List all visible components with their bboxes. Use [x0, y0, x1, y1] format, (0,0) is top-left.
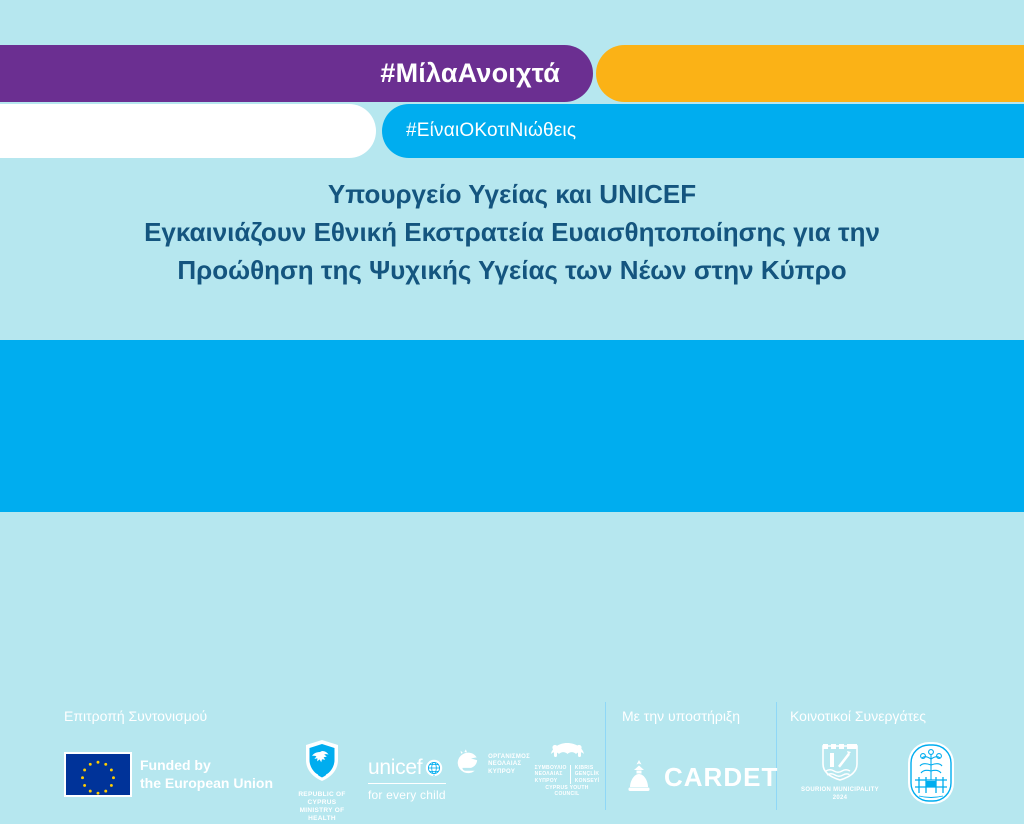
hashtag-band-primary: #ΜίλαΑνοιχτά [0, 45, 593, 102]
youth-board-dove-icon [452, 748, 486, 782]
unicef-logo: unicef for every child [368, 756, 446, 802]
sourion-municipality-logo: SOURION MUNICIPALITY 2024 [800, 740, 880, 802]
community-tree-emblem-icon [902, 740, 960, 806]
cyc-greek-line-2: ΝΕΟΛΑΙΑΣ [535, 771, 567, 777]
headline-line-2: Εγκαινιάζουν Εθνική Εκστρατεία Ευαισθητο… [0, 213, 1024, 251]
cardet-logo: CARDET [622, 758, 778, 796]
youth-board-caption-line-3: ΚΥΠΡΟΥ [488, 769, 530, 777]
republic-of-cyprus-ministry-of-health-logo: REPUBLIC OF CYPRUS MINISTRY OF HEALTH [286, 738, 358, 824]
youth-board-caption-line-1: ΟΡΓΑΝΙΣΜΟΣ [488, 754, 530, 762]
hashtag-secondary-text: #ΕίναιΟΚοτιΝιώθεις [406, 120, 576, 142]
hashtag-primary-text: #ΜίλαΑνοιχτά [380, 58, 560, 89]
campaign-banner: #ΜίλαΑνοιχτά #ΕίναιΟΚοτιΝιώθεις Υπουργεί… [0, 0, 1024, 512]
unicef-wordmark: unicef [368, 756, 422, 780]
cyc-turkish-line-2: GENÇLİK [575, 771, 600, 777]
cyprus-caption-line-1: REPUBLIC OF CYPRUS [286, 791, 358, 807]
community-tree-emblem-logo [900, 740, 962, 806]
eu-funding-line-2: the European Union [140, 774, 273, 792]
headline-line-3: Προώθηση της Ψυχικής Υγείας των Νέων στη… [0, 251, 1024, 289]
footer-divider-1 [605, 702, 606, 810]
cyc-english-line: CYPRUS YOUTH COUNCIL [533, 785, 601, 798]
youth-board-caption-line-2: ΝΕΟΛΑΙΑΣ [488, 761, 530, 769]
headline: Υπουργείο Υγείας και UNICEF Εγκαινιάζουν… [0, 175, 1024, 289]
cyprus-youth-council-umbrella-icon [533, 740, 601, 764]
footer-group-label-coordination: Επιτροπή Συντονισμού [64, 708, 207, 724]
cyprus-youth-council-logo: ΣΥΜΒΟΥΛΙΟ ΝΕΟΛΑΙΑΣ ΚΥΠΡΟΥ KIBRIS GENÇLİK… [533, 740, 601, 797]
footer-group-label-community: Κοινοτικοί Συνεργάτες [790, 708, 926, 724]
footer-group-label-support: Με την υποστήριξη [622, 708, 740, 724]
eu-flag-icon [64, 752, 132, 797]
sourion-caption-line-1: SOURION MUNICIPALITY [800, 787, 880, 795]
cyprus-caption-line-2: MINISTRY OF HEALTH [286, 807, 358, 823]
footer-partners-bar: Επιτροπή Συντονισμού Με την υποστήριξη Κ… [0, 340, 1024, 512]
sourion-caption-line-2: 2024 [800, 795, 880, 803]
youth-board-of-cyprus-logo: ΟΡΓΑΝΙΣΜΟΣ ΝΕΟΛΑΙΑΣ ΚΥΠΡΟΥ [452, 748, 530, 782]
cyc-turkish-line-3: KONSEYİ [575, 778, 600, 784]
cyprus-coat-of-arms-icon [286, 738, 358, 784]
unicef-tagline: for every child [368, 783, 446, 802]
unicef-globe-icon [425, 759, 443, 777]
cyc-greek-line-3: ΚΥΠΡΟΥ [535, 778, 567, 784]
eu-funding-line-1: Funded by [140, 756, 273, 774]
hashtag-band-secondary: #ΕίναιΟΚοτιΝιώθεις [382, 104, 1024, 158]
cardet-lamp-icon [622, 758, 656, 796]
accent-band-orange [596, 45, 1024, 102]
eu-funding-text: Funded by the European Union [140, 756, 273, 792]
cardet-wordmark: CARDET [664, 762, 778, 793]
accent-band-white [0, 104, 376, 158]
sourion-municipality-crest-icon [816, 740, 864, 784]
headline-line-1: Υπουργείο Υγείας και UNICEF [0, 175, 1024, 213]
